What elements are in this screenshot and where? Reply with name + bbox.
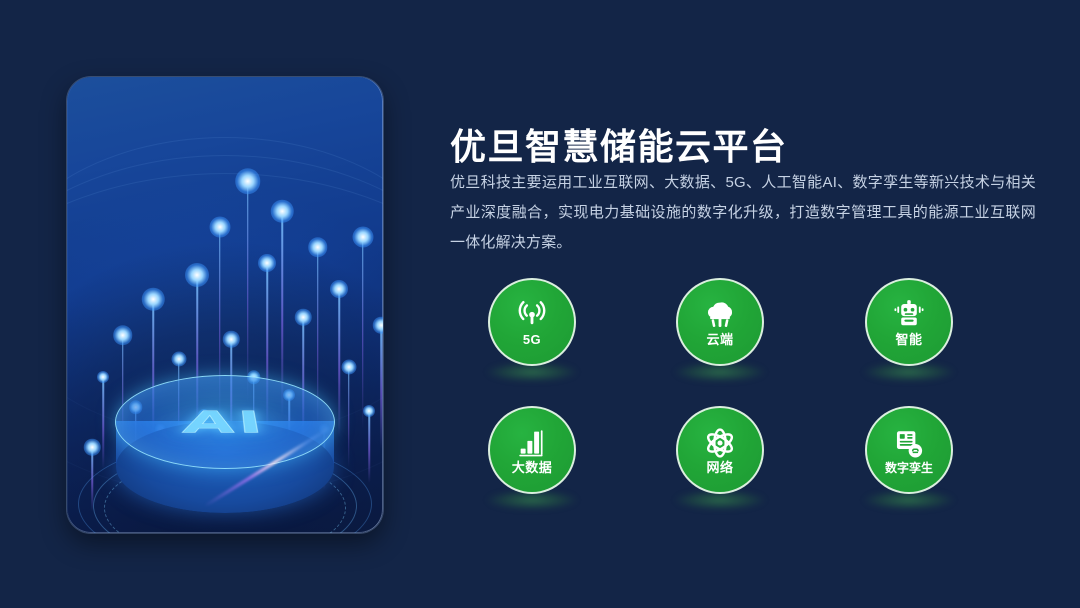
ai-platform-disc: AI <box>75 369 375 533</box>
feature-row-top: 5G <box>476 278 996 406</box>
feature-item-cloud[interactable]: 云端 <box>676 278 764 366</box>
feature-circle[interactable]: 智能 <box>865 278 953 366</box>
feature-label: 5G <box>523 333 541 346</box>
feature-label: 大数据 <box>512 461 553 474</box>
feature-circle[interactable]: 云端 <box>676 278 764 366</box>
feature-circle[interactable]: 数字孪生 <box>865 406 953 494</box>
atom-network-icon <box>703 426 737 460</box>
feature-label: 智能 <box>895 333 922 346</box>
feature-label: 数字孪生 <box>885 462 933 474</box>
feature-item-5g[interactable]: 5G <box>488 278 576 366</box>
cloud-server-icon <box>703 298 737 332</box>
slide-root: AI 优旦智慧储能云平台 优旦科技主要运用工业互联网、大数据、5G、人工智能AI… <box>0 0 1080 608</box>
feature-icon-grid: 5G <box>476 278 996 534</box>
hero-content: 优旦智慧储能云平台 优旦科技主要运用工业互联网、大数据、5G、人工智能AI、数字… <box>450 0 1050 608</box>
feature-item-network[interactable]: 网络 <box>676 406 764 494</box>
hero-visual-card: AI <box>67 77 383 533</box>
page-title: 优旦智慧储能云平台 <box>450 118 788 170</box>
document-link-icon <box>892 427 926 461</box>
feature-label: 云端 <box>706 333 733 346</box>
feature-circle[interactable]: 5G <box>488 278 576 366</box>
feature-circle[interactable]: 大数据 <box>488 406 576 494</box>
feature-item-bigdata[interactable]: 大数据 <box>488 406 576 494</box>
signal-tower-icon <box>515 298 549 332</box>
bar-chart-icon <box>515 426 549 460</box>
feature-row-bottom: 大数据 网络 <box>476 406 996 534</box>
feature-circle[interactable]: 网络 <box>676 406 764 494</box>
feature-item-intelligence[interactable]: 智能 <box>865 278 953 366</box>
hero-description: 优旦科技主要运用工业互联网、大数据、5G、人工智能AI、数字孪生等新兴技术与相关… <box>450 168 1036 258</box>
ai-letters: AI <box>125 406 325 441</box>
robot-icon <box>892 298 926 332</box>
feature-item-digital-twin[interactable]: 数字孪生 <box>865 406 953 494</box>
feature-label: 网络 <box>706 461 733 474</box>
